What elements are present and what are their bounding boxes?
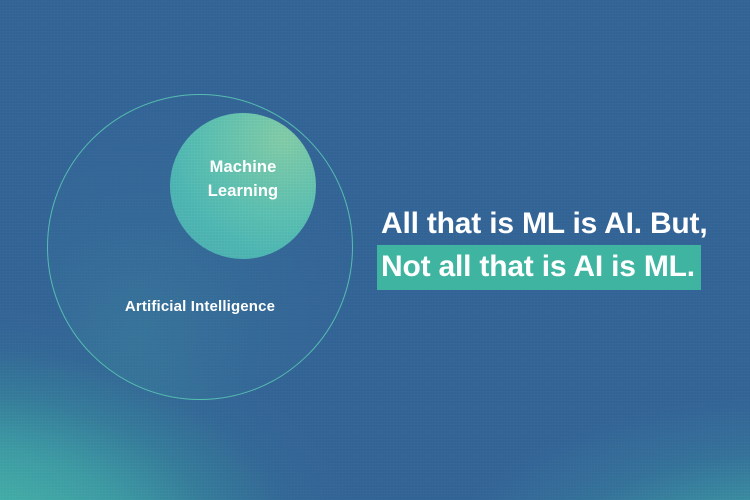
headline-line-2-highlighted: Not all that is AI is ML.	[377, 245, 701, 290]
label-artificial-intelligence: Artificial Intelligence	[47, 298, 353, 315]
headline-block: All that is ML is AI. But, Not all that …	[381, 203, 731, 290]
venn-diagram: Machine Learning Artificial Intelligence	[0, 0, 400, 500]
headline-line-1: All that is ML is AI. But,	[381, 203, 731, 245]
infographic-canvas: Machine Learning Artificial Intelligence…	[0, 0, 750, 500]
label-machine-learning: Machine Learning	[170, 155, 316, 203]
